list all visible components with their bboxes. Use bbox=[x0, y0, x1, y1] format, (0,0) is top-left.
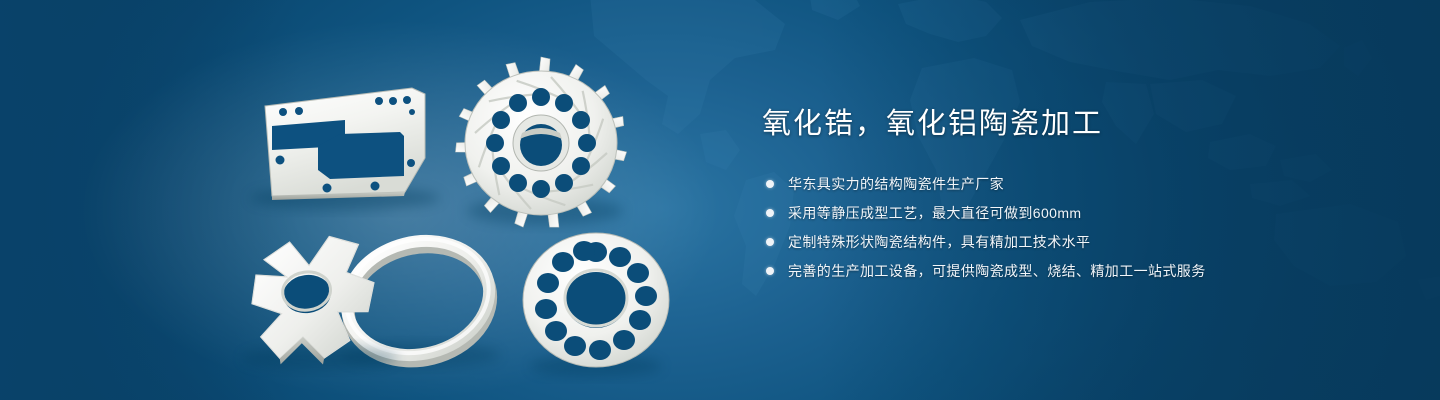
product-image-group bbox=[0, 0, 760, 400]
list-item: 采用等静压成型工艺，最大直径可做到600mm bbox=[766, 203, 1322, 223]
banner-headline: 氧化锆，氧化铝陶瓷加工 bbox=[762, 104, 1322, 144]
list-item: 完善的生产加工设备，可提供陶瓷成型、烧结、精加工一站式服务 bbox=[766, 261, 1322, 281]
list-item-label: 完善的生产加工设备，可提供陶瓷成型、烧结、精加工一站式服务 bbox=[788, 263, 1206, 279]
list-item: 定制特殊形状陶瓷结构件，具有精加工技术水平 bbox=[766, 232, 1322, 252]
bullet-dot-icon bbox=[766, 209, 774, 217]
list-item-label: 定制特殊形状陶瓷结构件，具有精加工技术水平 bbox=[788, 234, 1090, 250]
list-item-label: 采用等静压成型工艺，最大直径可做到600mm bbox=[788, 205, 1081, 221]
bullet-dot-icon bbox=[766, 267, 774, 275]
bullet-dot-icon bbox=[766, 180, 774, 188]
banner-feature-list: 华东具实力的结构陶瓷件生产厂家 采用等静压成型工艺，最大直径可做到600mm 定… bbox=[766, 174, 1322, 281]
hero-banner: 氧化锆，氧化铝陶瓷加工 华东具实力的结构陶瓷件生产厂家 采用等静压成型工艺，最大… bbox=[0, 0, 1440, 400]
list-item: 华东具实力的结构陶瓷件生产厂家 bbox=[766, 174, 1322, 194]
ceramic-plate-part bbox=[250, 88, 440, 210]
banner-copy: 氧化锆，氧化铝陶瓷加工 华东具实力的结构陶瓷件生产厂家 采用等静压成型工艺，最大… bbox=[762, 104, 1322, 281]
bullet-dot-icon bbox=[766, 238, 774, 246]
list-item-label: 华东具实力的结构陶瓷件生产厂家 bbox=[788, 176, 1004, 192]
